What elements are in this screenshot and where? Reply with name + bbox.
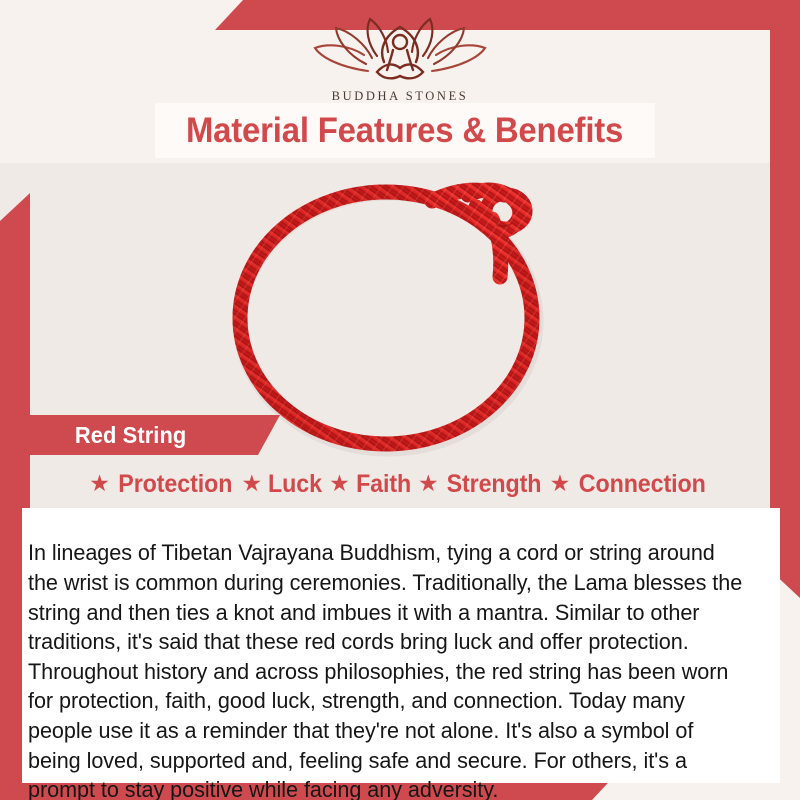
lotus-meditation-figure-icon	[305, 14, 495, 86]
feature-label: Luck	[268, 470, 322, 499]
description-plate: In lineages of Tibetan Vajrayana Buddhis…	[22, 508, 780, 783]
feature-item-faith: ★ Faith	[329, 470, 413, 499]
feature-item-connection: ★ Connection	[550, 470, 711, 499]
description-text: In lineages of Tibetan Vajrayana Buddhis…	[28, 538, 748, 800]
feature-label: Protection	[118, 470, 232, 499]
poster-canvas: BUDDHA STONES Material Features & Benefi…	[0, 0, 800, 800]
star-icon: ★	[418, 472, 439, 495]
star-icon: ★	[329, 472, 350, 495]
feature-label: Connection	[579, 470, 706, 499]
feature-label: Strength	[446, 470, 541, 499]
page-title: Material Features & Benefits	[186, 111, 623, 151]
feature-item-strength: ★ Strength	[418, 470, 545, 499]
product-photo	[0, 163, 800, 508]
feature-item-protection: ★ Protection	[89, 470, 236, 499]
feature-item-luck: ★ Luck	[242, 470, 325, 499]
brand-logo: BUDDHA STONES	[0, 14, 800, 104]
star-icon: ★	[242, 472, 263, 495]
material-ribbon: Red String	[30, 415, 280, 455]
brand-wordmark: BUDDHA STONES	[332, 89, 469, 104]
star-icon: ★	[89, 472, 110, 495]
feature-label: Faith	[356, 470, 411, 499]
star-icon: ★	[550, 472, 571, 495]
feature-list: ★ Protection ★ Luck ★ Faith ★ Strength ★…	[18, 466, 782, 502]
material-name: Red String	[75, 422, 186, 449]
headline-plate: Material Features & Benefits	[155, 103, 655, 158]
